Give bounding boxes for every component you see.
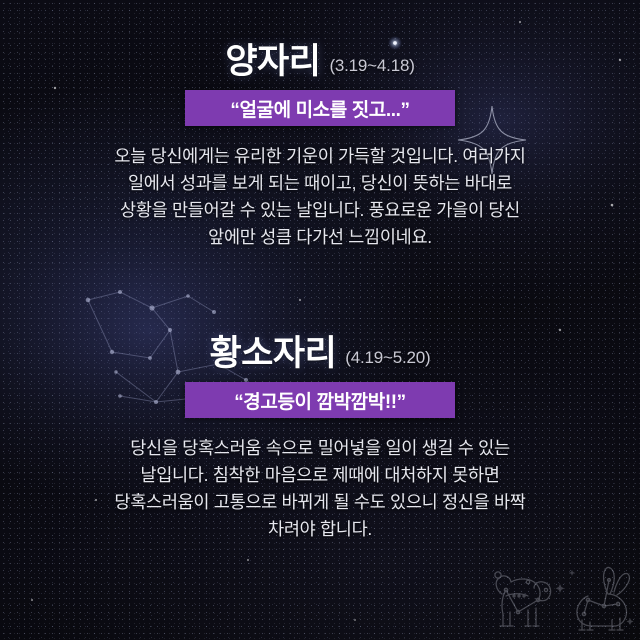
quote-banner-text-aries: “얼굴에 미소를 짓고...” (230, 95, 409, 122)
quote-banner-wrap-taurus: “경고등이 깜박깜박!!” (0, 382, 640, 418)
quote-banner-taurus: “경고등이 깜박깜박!!” (185, 382, 455, 418)
sign-date-range-aries: (3.19~4.18) (329, 57, 414, 74)
horoscope-card: 양자리 (3.19~4.18) “얼굴에 미소를 짓고...” 오늘 당신에게는… (0, 0, 640, 640)
quote-banner-text-taurus: “경고등이 깜박깜박!!” (234, 387, 406, 414)
horoscope-section-aries: 양자리 (3.19~4.18) “얼굴에 미소를 짓고...” 오늘 당신에게는… (0, 44, 640, 251)
sign-name-aries: 양자리 (225, 44, 320, 79)
section-heading-aries: 양자리 (3.19~4.18) (0, 44, 640, 79)
horoscope-section-taurus: 황소자리 (4.19~5.20) “경고등이 깜박깜박!!” 당신을 당혹스러움… (0, 336, 640, 543)
quote-banner-wrap-aries: “얼굴에 미소를 짓고...” (0, 90, 640, 126)
quote-banner-aries: “얼굴에 미소를 짓고...” (185, 90, 455, 126)
section-heading-taurus: 황소자리 (4.19~5.20) (0, 336, 640, 371)
sign-date-range-taurus: (4.19~5.20) (345, 349, 430, 366)
horoscope-body-taurus: 당신을 당혹스러움 속으로 밀어넣을 일이 생길 수 있는 날입니다. 침착한 … (40, 435, 600, 543)
sign-name-taurus: 황소자리 (209, 336, 336, 371)
horoscope-body-aries: 오늘 당신에게는 유리한 기운이 가득할 것입니다. 여러가지 일에서 성과를 … (40, 143, 600, 251)
